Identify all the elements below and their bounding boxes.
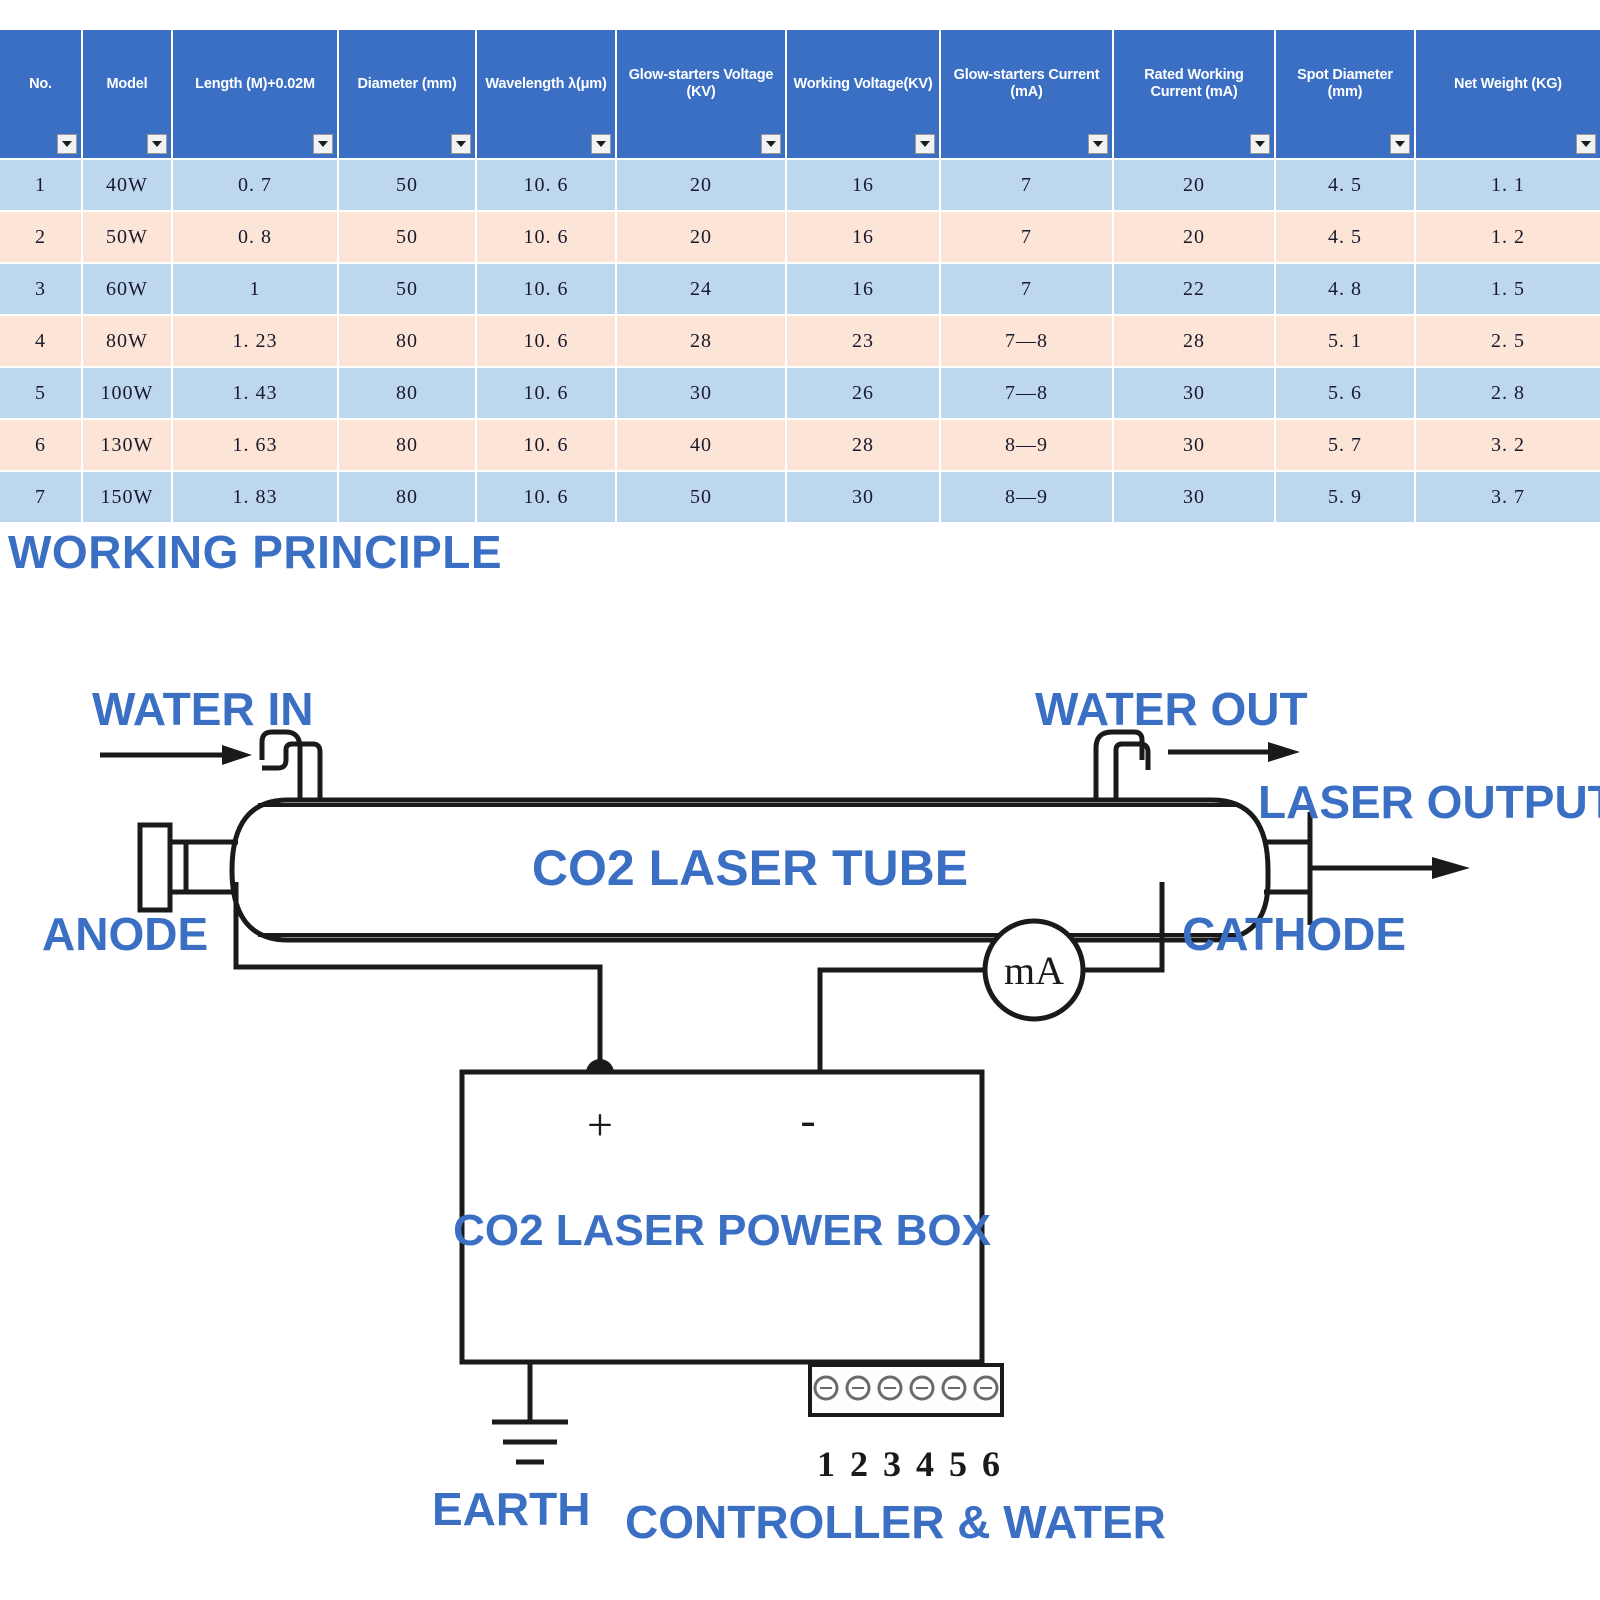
column-header-net-weight[interactable]: Net Weight (KG) bbox=[1415, 30, 1600, 159]
column-header-label: Model bbox=[107, 76, 148, 92]
table-cell: 80 bbox=[338, 471, 476, 523]
water-in-pipe bbox=[262, 732, 320, 798]
power-box-label: CO2 LASER POWER BOX bbox=[453, 1206, 991, 1255]
table-cell: 3 bbox=[0, 263, 82, 315]
table-cell: 30 bbox=[616, 367, 786, 419]
table-cell: 50 bbox=[616, 471, 786, 523]
table-cell: 6 bbox=[0, 419, 82, 471]
terminal-number: 4 bbox=[916, 1444, 934, 1484]
working-principle-diagram: mA + - CO2 LASER POWER BOX bbox=[0, 620, 1600, 1600]
water-in-label: WATER IN bbox=[92, 683, 313, 735]
table-cell: 80 bbox=[338, 367, 476, 419]
table-cell: 7—8 bbox=[940, 367, 1113, 419]
milliamp-meter: mA bbox=[985, 921, 1083, 1019]
table-cell: 20 bbox=[1113, 159, 1275, 211]
column-header-label: Glow-starters Current (mA) bbox=[954, 67, 1100, 100]
table-cell: 4. 8 bbox=[1275, 263, 1415, 315]
table-cell: 40W bbox=[82, 159, 172, 211]
water-out-pipe bbox=[1096, 732, 1148, 798]
table-cell: 5 bbox=[0, 367, 82, 419]
negative-terminal-label: - bbox=[800, 1094, 815, 1145]
table-row: 5100W1. 438010. 630267—8305. 62. 8 bbox=[0, 367, 1600, 419]
filter-dropdown-icon[interactable] bbox=[313, 134, 333, 154]
table-cell: 40 bbox=[616, 419, 786, 471]
filter-dropdown-icon[interactable] bbox=[761, 134, 781, 154]
table-cell: 3. 7 bbox=[1415, 471, 1600, 523]
filter-dropdown-icon[interactable] bbox=[1088, 134, 1108, 154]
positive-terminal-label: + bbox=[587, 1099, 613, 1150]
table-cell: 2. 5 bbox=[1415, 315, 1600, 367]
column-header-model[interactable]: Model bbox=[82, 30, 172, 159]
table-cell: 26 bbox=[786, 367, 940, 419]
table-cell: 100W bbox=[82, 367, 172, 419]
table-cell: 16 bbox=[786, 263, 940, 315]
table-cell: 28 bbox=[1113, 315, 1275, 367]
controller-terminal-block bbox=[810, 1365, 1002, 1415]
table-cell: 1. 1 bbox=[1415, 159, 1600, 211]
table-cell: 1 bbox=[0, 159, 82, 211]
table-cell: 8—9 bbox=[940, 471, 1113, 523]
table-cell: 50 bbox=[338, 211, 476, 263]
table-cell: 7 bbox=[0, 471, 82, 523]
tube-left-endcap bbox=[140, 825, 238, 910]
column-header-glow-starters-voltage[interactable]: Glow-starters Voltage (KV) bbox=[616, 30, 786, 159]
terminal-number: 2 bbox=[850, 1444, 868, 1484]
table-cell: 10. 6 bbox=[476, 211, 616, 263]
filter-dropdown-icon[interactable] bbox=[591, 134, 611, 154]
table-row: 7150W1. 838010. 650308—9305. 93. 7 bbox=[0, 471, 1600, 523]
table-header-row: No. Model Length (M)+0.02M Diameter (mm)… bbox=[0, 30, 1600, 159]
terminal-numbers: 1 2 3 4 5 6 bbox=[817, 1444, 1000, 1484]
filter-dropdown-icon[interactable] bbox=[1390, 134, 1410, 154]
water-in-arrow-icon bbox=[100, 745, 252, 765]
table-cell: 1. 5 bbox=[1415, 263, 1600, 315]
table-cell: 28 bbox=[616, 315, 786, 367]
column-header-label: Working Voltage(KV) bbox=[793, 76, 932, 92]
column-header-label: Wavelength λ(μm) bbox=[485, 76, 606, 92]
table-cell: 50W bbox=[82, 211, 172, 263]
table-cell: 5. 1 bbox=[1275, 315, 1415, 367]
table-cell: 150W bbox=[82, 471, 172, 523]
table-cell: 24 bbox=[616, 263, 786, 315]
column-header-diameter[interactable]: Diameter (mm) bbox=[338, 30, 476, 159]
table-cell: 0. 8 bbox=[172, 211, 338, 263]
table-cell: 4. 5 bbox=[1275, 211, 1415, 263]
table-cell: 4 bbox=[0, 315, 82, 367]
table-cell: 20 bbox=[616, 211, 786, 263]
table-cell: 1. 83 bbox=[172, 471, 338, 523]
table-cell: 7 bbox=[940, 211, 1113, 263]
specification-table-container: No. Model Length (M)+0.02M Diameter (mm)… bbox=[0, 30, 1600, 524]
table-cell: 30 bbox=[786, 471, 940, 523]
cathode-label: CATHODE bbox=[1182, 908, 1406, 960]
table-cell: 7 bbox=[940, 159, 1113, 211]
table-cell: 23 bbox=[786, 315, 940, 367]
milliamp-meter-label: mA bbox=[1004, 948, 1064, 993]
table-cell: 5. 9 bbox=[1275, 471, 1415, 523]
table-cell: 20 bbox=[616, 159, 786, 211]
terminal-number: 5 bbox=[949, 1444, 967, 1484]
co2-laser-power-box: + - CO2 LASER POWER BOX bbox=[453, 1072, 991, 1362]
table-cell: 4. 5 bbox=[1275, 159, 1415, 211]
terminal-number: 1 bbox=[817, 1444, 835, 1484]
table-cell: 10. 6 bbox=[476, 159, 616, 211]
filter-dropdown-icon[interactable] bbox=[915, 134, 935, 154]
table-cell: 1. 43 bbox=[172, 367, 338, 419]
table-cell: 5. 7 bbox=[1275, 419, 1415, 471]
table-cell: 2. 8 bbox=[1415, 367, 1600, 419]
column-header-length[interactable]: Length (M)+0.02M bbox=[172, 30, 338, 159]
anode-label: ANODE bbox=[42, 908, 208, 960]
laser-output-label: LASER OUTPUT bbox=[1258, 776, 1600, 828]
table-cell: 60W bbox=[82, 263, 172, 315]
filter-dropdown-icon[interactable] bbox=[57, 134, 77, 154]
table-cell: 28 bbox=[786, 419, 940, 471]
column-header-rated-working-current[interactable]: Rated Working Current (mA) bbox=[1113, 30, 1275, 159]
table-cell: 20 bbox=[1113, 211, 1275, 263]
table-cell: 16 bbox=[786, 211, 940, 263]
table-cell: 130W bbox=[82, 419, 172, 471]
specification-table: No. Model Length (M)+0.02M Diameter (mm)… bbox=[0, 30, 1600, 524]
table-cell: 80W bbox=[82, 315, 172, 367]
table-cell: 1 bbox=[172, 263, 338, 315]
column-header-label: Length (M)+0.02M bbox=[195, 76, 315, 92]
table-cell: 50 bbox=[338, 263, 476, 315]
laser-tube-label: CO2 LASER TUBE bbox=[532, 840, 968, 896]
table-cell: 5. 6 bbox=[1275, 367, 1415, 419]
filter-dropdown-icon[interactable] bbox=[147, 134, 167, 154]
filter-dropdown-icon[interactable] bbox=[451, 134, 471, 154]
column-header-no[interactable]: No. bbox=[0, 30, 82, 159]
table-cell: 1. 63 bbox=[172, 419, 338, 471]
column-header-working-voltage[interactable]: Working Voltage(KV) bbox=[786, 30, 940, 159]
table-cell: 10. 6 bbox=[476, 471, 616, 523]
column-header-label: Diameter (mm) bbox=[358, 76, 457, 92]
laser-output-arrow-icon bbox=[1312, 857, 1470, 879]
earth-label: EARTH bbox=[432, 1483, 590, 1535]
table-row: 6130W1. 638010. 640288—9305. 73. 2 bbox=[0, 419, 1600, 471]
column-header-label: Net Weight (KG) bbox=[1454, 76, 1562, 92]
column-header-label: Rated Working Current (mA) bbox=[1144, 67, 1243, 100]
column-header-label: No. bbox=[29, 76, 52, 92]
filter-dropdown-icon[interactable] bbox=[1576, 134, 1596, 154]
table-row: 360W15010. 624167224. 81. 5 bbox=[0, 263, 1600, 315]
earth-ground-symbol-icon bbox=[492, 1362, 568, 1462]
water-out-arrow-icon bbox=[1168, 742, 1300, 762]
table-row: 480W1. 238010. 628237—8285. 12. 5 bbox=[0, 315, 1600, 367]
table-cell: 16 bbox=[786, 159, 940, 211]
table-row: 140W0. 75010. 620167204. 51. 1 bbox=[0, 159, 1600, 211]
table-cell: 7—8 bbox=[940, 315, 1113, 367]
table-cell: 80 bbox=[338, 315, 476, 367]
table-cell: 3. 2 bbox=[1415, 419, 1600, 471]
column-header-label: Glow-starters Voltage (KV) bbox=[629, 67, 774, 100]
table-cell: 2 bbox=[0, 211, 82, 263]
column-header-wavelength[interactable]: Wavelength λ(μm) bbox=[476, 30, 616, 159]
table-cell: 10. 6 bbox=[476, 419, 616, 471]
table-cell: 1. 2 bbox=[1415, 211, 1600, 263]
water-out-label: WATER OUT bbox=[1035, 683, 1308, 735]
column-header-glow-starters-current[interactable]: Glow-starters Current (mA) bbox=[940, 30, 1113, 159]
terminal-number: 3 bbox=[883, 1444, 901, 1484]
table-cell: 10. 6 bbox=[476, 315, 616, 367]
table-cell: 0. 7 bbox=[172, 159, 338, 211]
table-cell: 30 bbox=[1113, 367, 1275, 419]
table-cell: 7 bbox=[940, 263, 1113, 315]
table-cell: 22 bbox=[1113, 263, 1275, 315]
table-cell: 10. 6 bbox=[476, 367, 616, 419]
controller-water-label: CONTROLLER & WATER bbox=[625, 1496, 1166, 1548]
table-cell: 50 bbox=[338, 159, 476, 211]
table-cell: 10. 6 bbox=[476, 263, 616, 315]
table-row: 250W0. 85010. 620167204. 51. 2 bbox=[0, 211, 1600, 263]
table-cell: 1. 23 bbox=[172, 315, 338, 367]
terminal-number: 6 bbox=[982, 1444, 1000, 1484]
table-cell: 8—9 bbox=[940, 419, 1113, 471]
table-cell: 30 bbox=[1113, 471, 1275, 523]
column-header-label: Spot Diameter (mm) bbox=[1297, 67, 1393, 100]
section-title-working-principle: WORKING PRINCIPLE bbox=[8, 525, 502, 579]
filter-dropdown-icon[interactable] bbox=[1250, 134, 1270, 154]
table-body: 140W0. 75010. 620167204. 51. 1250W0. 850… bbox=[0, 159, 1600, 523]
table-cell: 80 bbox=[338, 419, 476, 471]
table-cell: 30 bbox=[1113, 419, 1275, 471]
column-header-spot-diameter[interactable]: Spot Diameter (mm) bbox=[1275, 30, 1415, 159]
